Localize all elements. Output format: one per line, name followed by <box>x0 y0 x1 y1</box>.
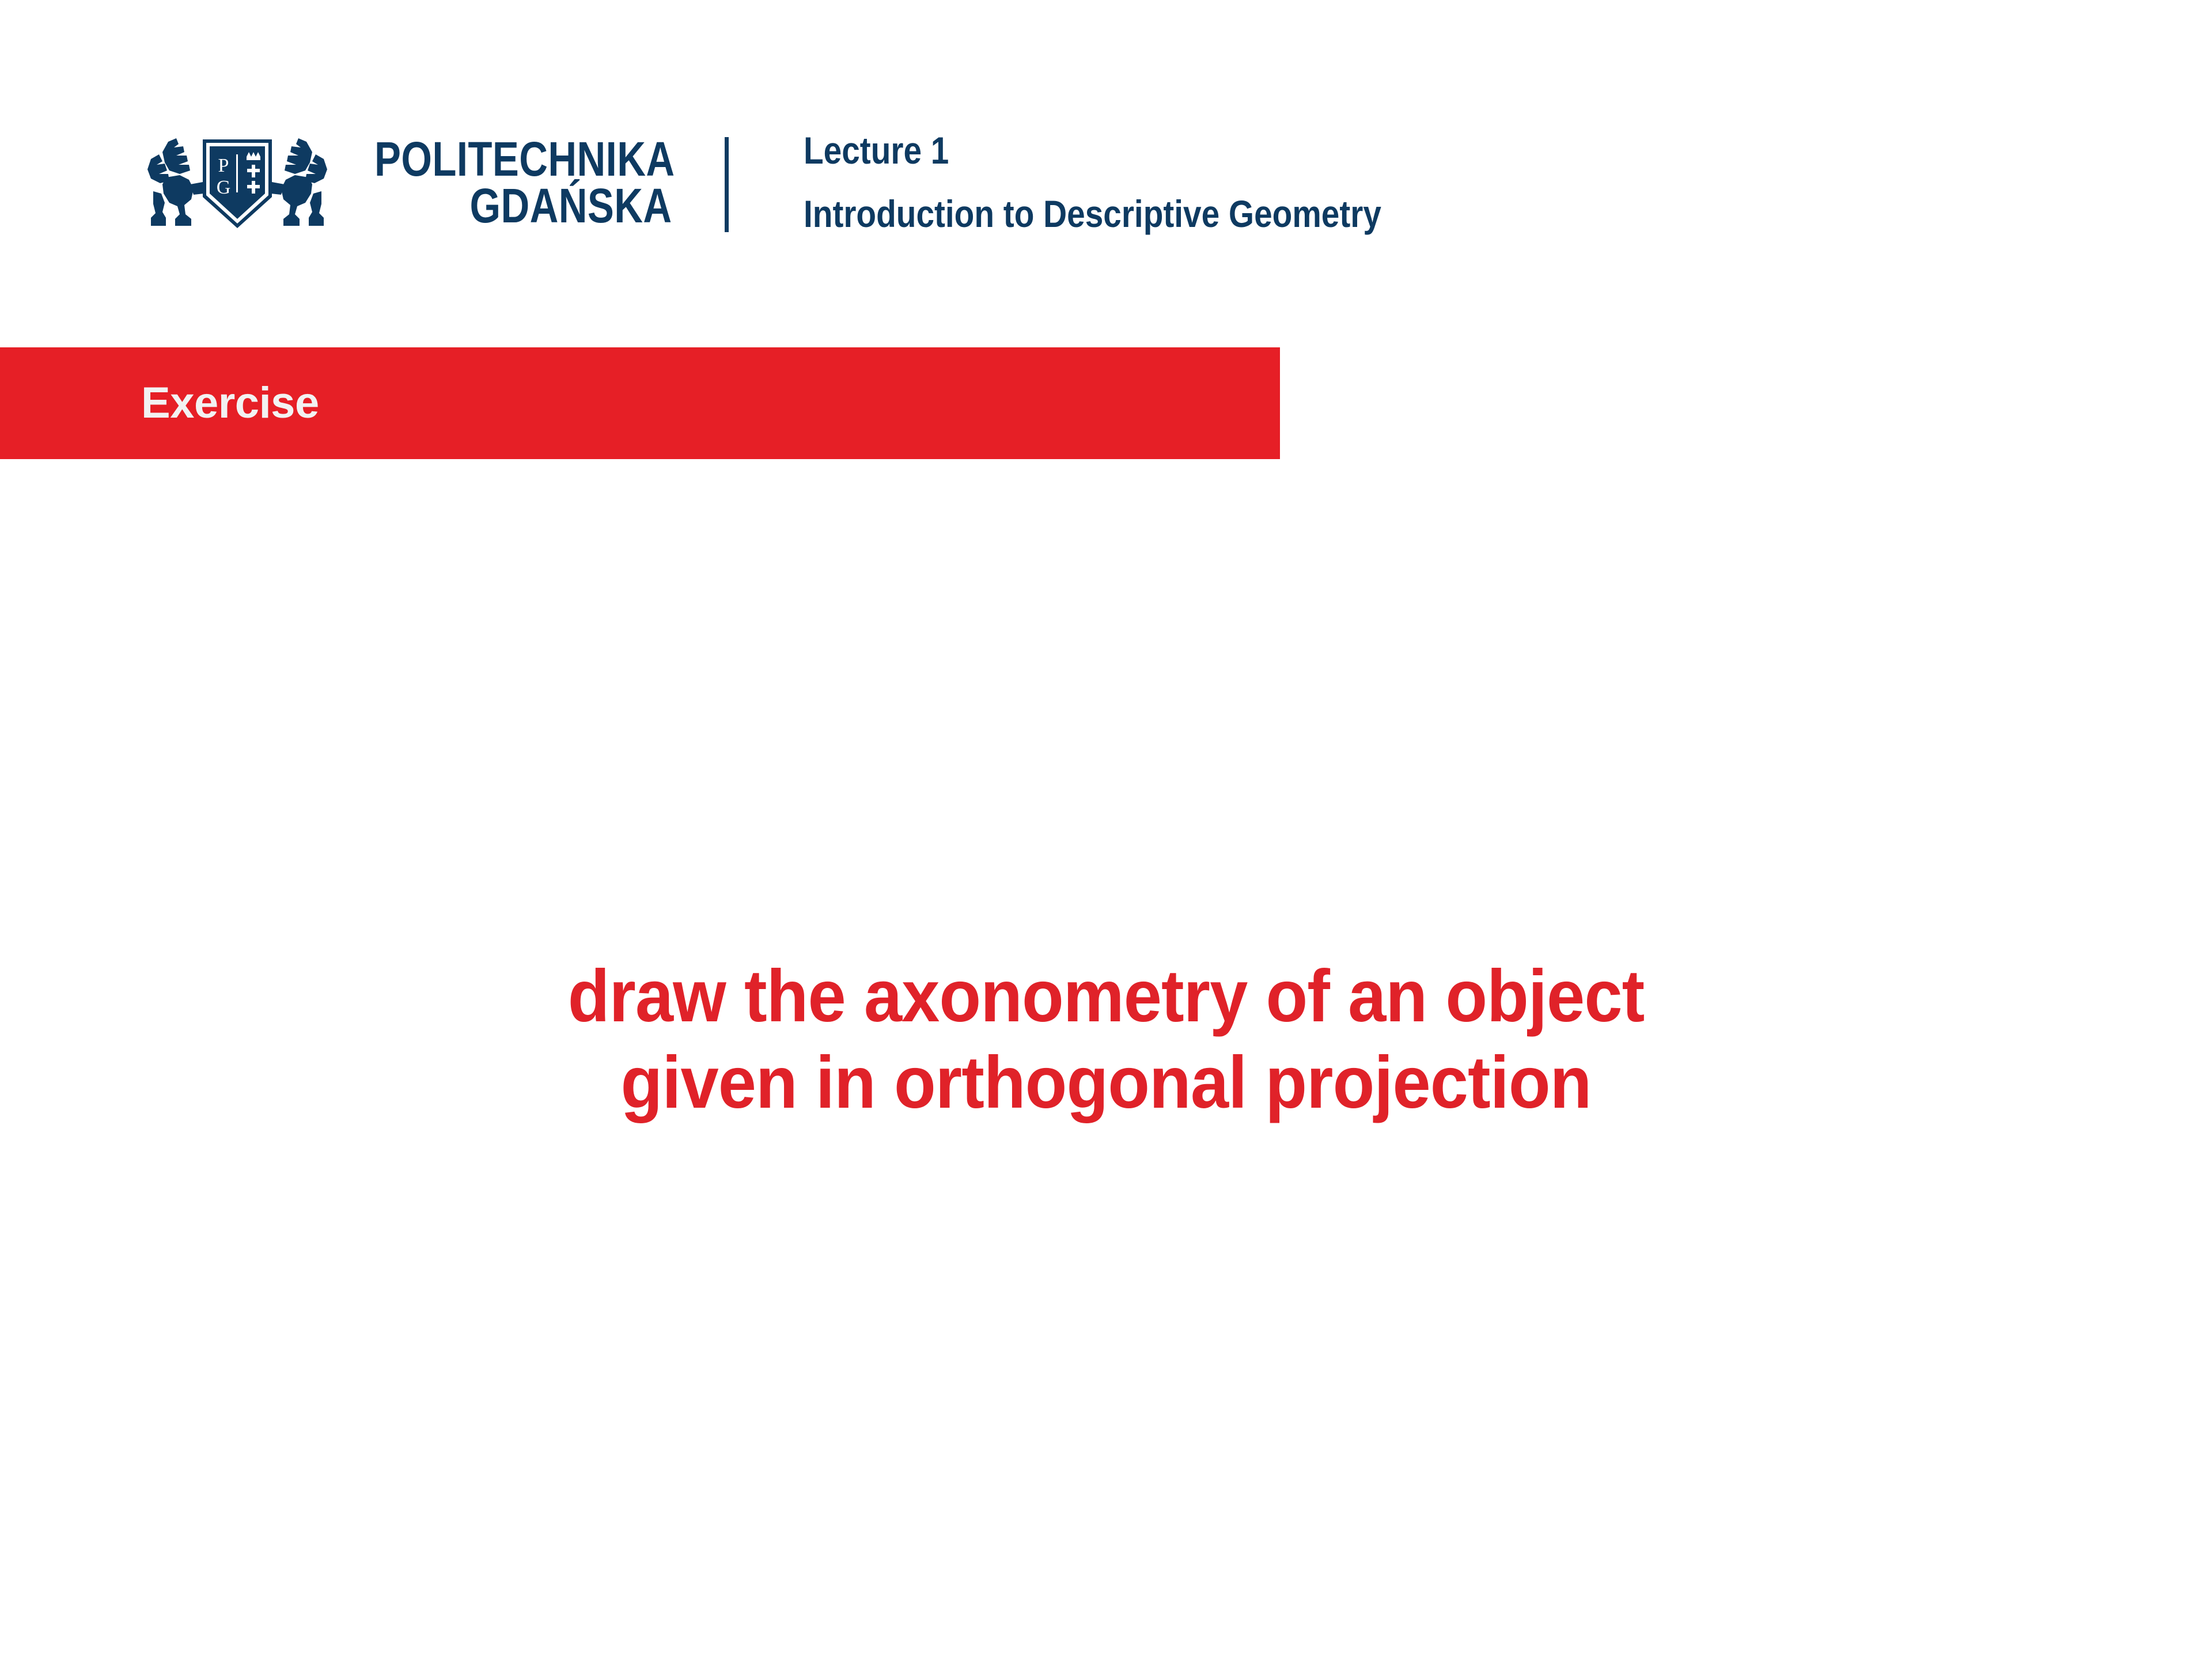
shield-letter-p: P <box>218 155 229 176</box>
slide-canvas: P G POLITECHNIKA GDAŃSKA Lecture 1 Intro… <box>0 0 2212 1659</box>
section-banner: Exercise <box>0 347 1280 459</box>
exercise-statement: draw the axonometry of an object given i… <box>0 953 2212 1126</box>
university-wordmark: POLITECHNIKA GDAŃSKA <box>374 136 675 230</box>
wordmark-line-1: POLITECHNIKA <box>374 132 675 186</box>
politechnika-gdanska-crest-icon: P G <box>134 129 341 236</box>
wordmark-line-2: GDAŃSKA <box>374 183 675 229</box>
exercise-statement-line-1: draw the axonometry of an object <box>77 953 2134 1040</box>
lecture-title-block: Lecture 1 Introduction to Descriptive Ge… <box>804 131 2071 233</box>
section-banner-label: Exercise <box>141 381 319 425</box>
slide-body: draw the axonometry of an object given i… <box>0 495 2212 1659</box>
exercise-statement-line-2: given in orthogonal projection <box>77 1040 2134 1126</box>
lecture-number: Lecture 1 <box>804 131 1893 169</box>
university-logo: P G POLITECHNIKA GDAŃSKA <box>134 128 698 237</box>
shield-letter-g: G <box>217 177 231 198</box>
slide-header: P G POLITECHNIKA GDAŃSKA Lecture 1 Intro… <box>0 0 2212 271</box>
lecture-subject: Introduction to Descriptive Geometry <box>804 195 1893 233</box>
header-divider <box>725 137 729 232</box>
